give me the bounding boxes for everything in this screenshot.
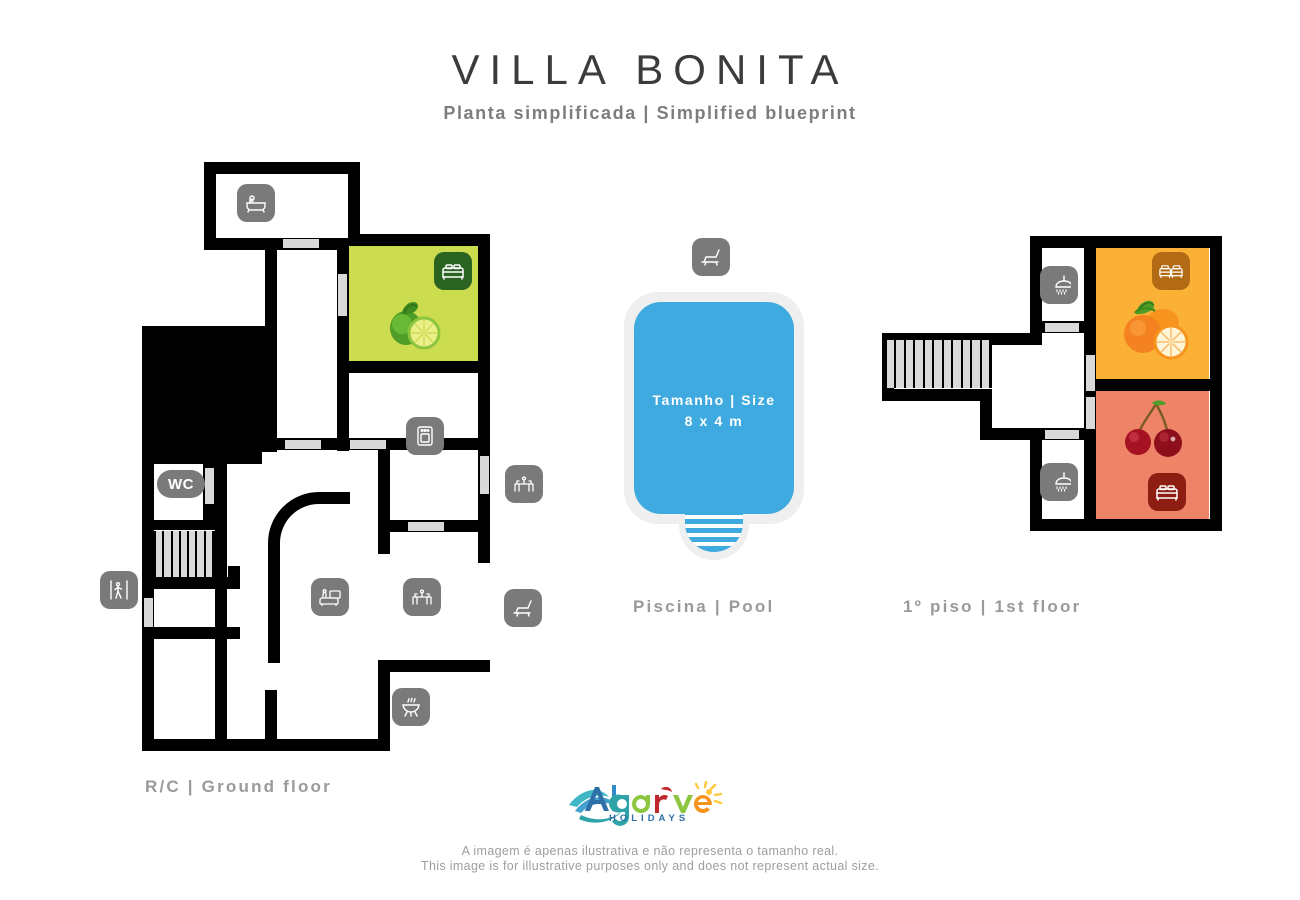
wall xyxy=(378,660,390,751)
wall xyxy=(378,660,490,672)
blueprint-page: VILLA BONITA Planta simplificada | Simpl… xyxy=(0,0,1300,900)
pool-size-value: 8 x 4 m xyxy=(685,413,744,429)
wall xyxy=(204,162,360,174)
bbq-grill-icon xyxy=(392,688,430,726)
door xyxy=(205,468,214,504)
pool-size-title: Tamanho | Size xyxy=(652,392,775,408)
staircase xyxy=(153,531,215,583)
sun-lounger-icon xyxy=(692,238,730,276)
wall xyxy=(980,428,1042,440)
twin-beds-icon xyxy=(1152,252,1190,290)
outdoor-dining-icon xyxy=(505,465,543,503)
dining-table-icon xyxy=(403,578,441,616)
door xyxy=(283,239,319,248)
logo-tagline: HOLIDAYS xyxy=(609,813,689,824)
wall xyxy=(1030,236,1222,248)
pool-caption: Piscina | Pool xyxy=(633,597,774,617)
door xyxy=(480,456,489,494)
door xyxy=(1045,323,1079,332)
wall xyxy=(142,520,215,530)
wall xyxy=(142,452,262,464)
door xyxy=(285,440,321,449)
ground-floor-caption: R/C | Ground floor xyxy=(145,777,332,797)
first-floor-caption: 1º piso | 1st floor xyxy=(903,597,1081,617)
lime-fruit-art xyxy=(382,292,444,354)
door xyxy=(1086,397,1095,429)
sofa-tv-icon xyxy=(311,578,349,616)
orange-fruit-art xyxy=(1118,295,1190,363)
wc-label: WC xyxy=(157,470,205,498)
curved-wall xyxy=(262,488,352,663)
shower-icon xyxy=(1040,266,1078,304)
double-bed-icon xyxy=(434,252,472,290)
oven-icon xyxy=(406,417,444,455)
wall xyxy=(348,361,490,373)
algarve-holidays-logo: HOLIDAYS xyxy=(565,775,737,827)
footer-disclaimer-pt: A imagem é apenas ilustrativa e não repr… xyxy=(0,844,1300,858)
staircase xyxy=(884,340,992,388)
solid-block xyxy=(142,326,277,452)
cherry-fruit-art xyxy=(1122,398,1188,460)
wall xyxy=(204,162,216,250)
wall xyxy=(1030,519,1222,531)
wall xyxy=(215,452,227,751)
shower-icon xyxy=(1040,463,1078,501)
pool-size-label: Tamanho | Size 8 x 4 m xyxy=(624,390,804,432)
page-title: VILLA BONITA xyxy=(0,46,1300,94)
wall xyxy=(265,690,277,751)
bathtub-icon xyxy=(237,184,275,222)
entrance-icon xyxy=(100,571,138,609)
wall xyxy=(478,234,490,373)
footer-disclaimer-en: This image is for illustrative purposes … xyxy=(0,859,1300,873)
door xyxy=(408,522,444,531)
page-subtitle: Planta simplificada | Simplified bluepri… xyxy=(0,103,1300,124)
door xyxy=(1086,355,1095,391)
door xyxy=(338,274,347,316)
wall xyxy=(378,450,390,554)
wall xyxy=(1084,379,1222,391)
double-bed-icon xyxy=(1148,473,1186,511)
wall xyxy=(348,234,490,246)
sun-lounger-icon xyxy=(504,589,542,627)
door xyxy=(1045,430,1079,439)
door xyxy=(350,440,386,449)
wall xyxy=(882,389,992,401)
wall xyxy=(228,566,240,588)
